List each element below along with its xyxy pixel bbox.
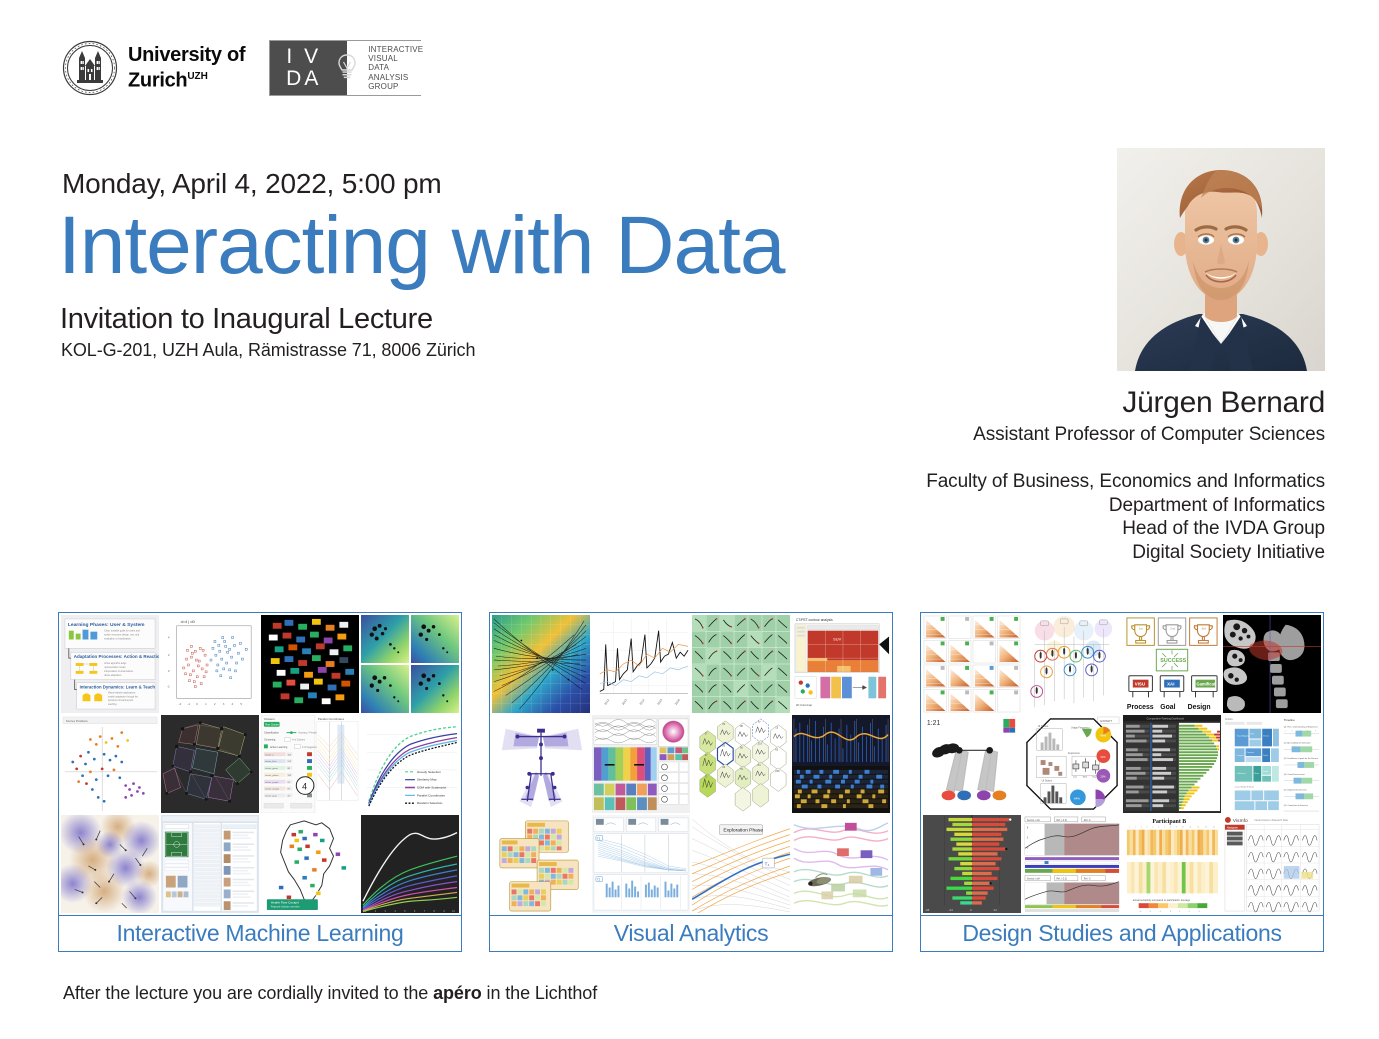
svg-text:1: 1 — [1285, 731, 1286, 733]
collage-grid: 1st 2nd 3rd SUCCESS VISU XAI — [921, 613, 1323, 915]
svg-text:46%: 46% — [1100, 734, 1106, 738]
svg-text:5: 5 — [1315, 731, 1316, 733]
ivda-letters-top: I V — [286, 46, 321, 68]
svg-text:2D Colormap: 2D Colormap — [796, 703, 813, 707]
thumb-parallel-coords-dashboard: T1 T2 — [592, 815, 690, 913]
svg-text:3rd: 3rd — [1201, 627, 1206, 631]
svg-text:drives adaptation.: drives adaptation. — [104, 674, 122, 677]
svg-text:CT/PET-contour analysis: CT/PET-contour analysis — [796, 618, 833, 622]
ivda-logo: I V DA INTERACTIVE VISUAL DATA ANALYSIS … — [269, 40, 421, 96]
svg-text:Ref. (-2.3): Ref. (-2.3) — [1056, 820, 1067, 822]
svg-text:representation model,: representation model, — [104, 666, 126, 669]
svg-text:UI Status: UI Status — [1038, 725, 1049, 728]
svg-text:Clustering: Clustering — [264, 738, 276, 741]
svg-text:Detail: Detail — [1263, 754, 1268, 757]
svg-text:Q5. Reported Involvement: Q5. Reported Involvement — [1284, 788, 1307, 791]
panel-visual-analytics: 2012 2013 2014 2015 2016 — [489, 612, 893, 952]
svg-text:Case Study Themes: Case Study Themes — [1235, 786, 1254, 789]
svg-text:-2: -2 — [167, 685, 170, 689]
svg-text:Learning Phases: User & System: Learning Phases: User & System — [68, 622, 145, 628]
svg-text:Scores Positions: Scores Positions — [66, 719, 88, 723]
svg-text:Q6. Connection to Structure: Q6. Connection to Structure — [1284, 804, 1308, 807]
panel-interactive-machine-learning: Learning Phases: User & System Clear, te… — [58, 612, 462, 952]
svg-text:cluster_gray: cluster_gray — [265, 795, 278, 798]
uzh-wordmark-line1: University of — [128, 44, 245, 66]
svg-text:4: 4 — [302, 781, 307, 791]
header-logos: University of ZurichUZH I V DA INTERACTI… — [62, 40, 421, 96]
svg-text:Ref. (-2.3): Ref. (-2.3) — [1056, 879, 1067, 881]
svg-text:Parallel Coordinates: Parallel Coordinates — [417, 793, 446, 797]
speaker-affiliation-2: Head of the IVDA Group — [805, 517, 1325, 541]
thumb-clustering-tool-ui: Clusters Run Cluster Classification Accu… — [261, 715, 359, 813]
svg-text:Sensor, m/s²: Sensor, m/s² — [1027, 878, 1040, 881]
svg-text:Parallel Coordinates: Parallel Coordinates — [318, 717, 345, 721]
svg-text:6: 6 — [1158, 827, 1159, 829]
svg-text:cluster_yellow: cluster_yellow — [265, 774, 279, 777]
thumb-signal-annotation-tool: Sensor, m/s²Ref. (-2.3)Ref. G 6 3 0 — [1023, 815, 1121, 913]
svg-text:Share: Share — [1254, 772, 1259, 775]
thumb-hexagonal-som-sparklines: 5723987715 37265621965 72247684208 — [692, 715, 790, 813]
svg-text:Greedy Selection: Greedy Selection — [417, 770, 441, 774]
svg-text:Export: Export — [1263, 770, 1269, 773]
svg-text:208: 208 — [775, 770, 780, 773]
svg-text:Q1. Plan / understanding of Ex: Q1. Plan / understanding of Experience — [1284, 726, 1318, 729]
svg-text:5: 5 — [1152, 827, 1153, 829]
svg-text:-2: -2 — [179, 702, 182, 706]
thumb-ct-head-neck-scan — [1223, 615, 1321, 713]
svg-text:system structure design, use,: system structure design, use, and — [104, 634, 140, 637]
speaker-affiliations: Faculty of Business, Economics and Infor… — [805, 470, 1325, 564]
svg-text:Exploration Phase: Exploration Phase — [723, 828, 763, 834]
ivda-expansion-text: INTERACTIVE VISUAL DATA ANALYSIS GROUP — [360, 41, 423, 95]
svg-text:Comparative Ranking Dashboard: Comparative Ranking Dashboard — [1147, 717, 1185, 720]
svg-text:VisInfo: VisInfo — [1233, 818, 1248, 824]
ivda-letters-bottom: DA — [286, 68, 321, 90]
footer-emphasis: apéro — [433, 983, 482, 1003]
svg-text:12: 12 — [1197, 827, 1199, 829]
svg-text:-2: -2 — [1149, 911, 1151, 913]
svg-text:-48: -48 — [925, 908, 930, 912]
svg-text:Regional indicator overview: Regional indicator overview — [271, 906, 300, 909]
thumb-rainbow-heat-edge-bundle — [492, 615, 590, 713]
svg-text:d=4 | d0: d=4 | d0 — [181, 619, 196, 624]
thumb-density-contour-field — [61, 815, 159, 913]
footer-suffix: in the Lichthof — [482, 983, 597, 1003]
svg-text:64%: 64% — [1074, 796, 1080, 800]
thumb-pedigree-provenance-graph — [1023, 615, 1121, 713]
svg-text:Usage Frequency: Usage Frequency — [1071, 728, 1090, 730]
svg-text:Q2. Accessibility of Informati: Q2. Accessibility of Information — [1284, 741, 1311, 744]
svg-text:Criteria: Criteria — [1225, 718, 1233, 721]
thumb-exploration-phase-trajectories: Exploration Phase T₄ — [692, 815, 790, 913]
svg-text:2: 2 — [1292, 731, 1293, 733]
svg-text:3: 3 — [1141, 827, 1142, 829]
svg-text:219: 219 — [758, 742, 763, 745]
speaker-info: Jürgen Bernard Assistant Professor of Co… — [805, 385, 1325, 564]
footer-note: After the lecture you are cordially invi… — [63, 983, 597, 1004]
thumb-graph-network-dark — [161, 715, 259, 813]
thumb-visinfo-sparkline-table: VisInfo Visual Access to Research Data N… — [1223, 815, 1321, 913]
svg-text:4: 4 — [1147, 827, 1148, 829]
svg-text:Gamificat.: Gamificat. — [1197, 682, 1217, 687]
collage-grid: Learning Phases: User & System Clear, te… — [59, 613, 461, 915]
ivda-expansion-1: VISUAL — [368, 54, 423, 63]
svg-text:cluster_a: cluster_a — [265, 753, 274, 756]
svg-text:20%: 20% — [1100, 776, 1106, 779]
panel-caption-design-studies-and-applications: Design Studies and Applications — [921, 915, 1323, 951]
panel-caption-visual-analytics: Visual Analytics — [490, 915, 892, 951]
speaker-affiliation-3: Digital Society Initiative — [805, 541, 1325, 565]
thumb-cluster-heatmap-quadrants — [361, 615, 459, 713]
svg-text:1:21: 1:21 — [927, 720, 941, 727]
svg-text:Navigation: Navigation — [1227, 827, 1239, 830]
svg-text:cluster_orange: cluster_orange — [265, 788, 280, 791]
svg-text:EXPERT: EXPERT — [1100, 719, 1112, 723]
svg-text:11: 11 — [1190, 827, 1192, 829]
svg-text:evaluation of visualization.: evaluation of visualization. — [104, 638, 132, 641]
thumb-diverging-bar-ranking-dark: -48-24024 — [923, 815, 1021, 913]
svg-text:Interact: Interact — [1263, 735, 1269, 738]
svg-text:Interaction Dynamics: Learn &: Interaction Dynamics: Learn & Teach — [80, 685, 156, 690]
svg-text:14: 14 — [1213, 827, 1215, 829]
svg-text:1st: 1st — [1139, 627, 1143, 631]
collage-grid: 2012 2013 2014 2015 2016 — [490, 613, 892, 915]
svg-text:-1: -1 — [187, 702, 190, 706]
svg-text:Active algorithm-ledge: Active algorithm-ledge — [104, 662, 127, 665]
thumb-flag-projection-map — [261, 615, 359, 713]
svg-text:Mixed-initiative applications: Mixed-initiative applications — [108, 691, 136, 694]
svg-text:3: 3 — [1198, 911, 1199, 913]
event-subtitle: Invitation to Inaugural Lecture — [60, 303, 433, 336]
uzh-seal-icon — [62, 40, 118, 96]
thumb-timeseries-peaks-chart: 2012 2013 2014 2015 2016 — [592, 615, 690, 713]
svg-text:Experience: Experience — [1068, 753, 1080, 755]
thumb-participant-b-heatmap: Participant B 1234 5678 9101112 1314 — [1123, 815, 1221, 913]
svg-text:Classification: Classification — [264, 732, 280, 735]
svg-text:T1: T1 — [597, 837, 601, 841]
uzh-wordmark: University of ZurichUZH — [128, 44, 245, 92]
svg-text:4: 4 — [1307, 731, 1308, 733]
svg-text:dynamics of learning and: dynamics of learning and — [108, 699, 134, 702]
svg-text:cluster_blue: cluster_blue — [265, 760, 277, 763]
svg-text:Active Learning: Active Learning — [270, 746, 288, 749]
svg-text:2: 2 — [1135, 827, 1136, 829]
svg-text:Health Flow Cockpit: Health Flow Cockpit — [271, 901, 299, 905]
panel-caption-interactive-machine-learning: Interactive Machine Learning — [59, 915, 461, 951]
svg-text:Clear, testable goals for user: Clear, testable goals for users and — [104, 630, 140, 633]
thumb-motion-trace-skeleton — [492, 715, 590, 813]
thumb-gamification-process-goal-design: 1st 2nd 3rd SUCCESS VISU XAI — [1123, 615, 1221, 713]
svg-text:XAI: XAI — [1167, 682, 1174, 687]
thumb-colormap-editor-ui — [592, 715, 690, 813]
svg-text:Overview: Overview — [1247, 751, 1255, 754]
svg-text:Q3. Usefulness of goals for th: Q3. Usefulness of goals for the Process — [1284, 757, 1318, 760]
svg-text:SUV: SUV — [833, 636, 841, 641]
svg-text:Accuracy / Precision: Accuracy / Precision — [298, 732, 319, 735]
svg-text:Participant B: Participant B — [1152, 819, 1186, 825]
svg-text:0: 0 — [1170, 911, 1171, 913]
svg-text:Visual Mapping: Visual Mapping — [1237, 736, 1249, 738]
svg-text:Similarity Map: Similarity Map — [417, 778, 437, 782]
svg-text:Ref. G: Ref. G — [1084, 820, 1091, 822]
speaker-name: Jürgen Bernard — [805, 385, 1325, 421]
svg-text:SUCCESS: SUCCESS — [1160, 658, 1186, 664]
thumb-two-cluster-scatterplot: d=4 | d0 — [161, 615, 259, 713]
panel-design-studies-and-applications: 1st 2nd 3rd SUCCESS VISU XAI — [920, 612, 1324, 952]
svg-text:interpretation of observations: interpretation of observations — [104, 670, 134, 673]
svg-text:9: 9 — [1176, 827, 1177, 829]
svg-text:Collaborate: Collaborate — [1237, 772, 1246, 775]
svg-text:-3: -3 — [1140, 911, 1142, 913]
svg-text:Low: Low — [1073, 777, 1077, 779]
svg-text:VISU: VISU — [1135, 682, 1145, 687]
event-venue: KOL-G-201, UZH Aula, Rämistrasse 71, 800… — [61, 340, 475, 361]
svg-text:Clusters: Clusters — [264, 717, 275, 721]
ivda-letters: I V DA — [270, 41, 334, 95]
svg-text:Timeline: Timeline — [1284, 718, 1295, 722]
svg-text:Goal: Goal — [1160, 704, 1175, 711]
svg-text:T2: T2 — [597, 878, 601, 882]
svg-text:1: 1 — [1179, 911, 1180, 913]
thumb-strategy-comparison-linechart: Greedy Selection Similarity Map SOM with… — [361, 715, 459, 813]
speaker-portrait-photo — [1117, 148, 1325, 371]
thumb-stacked-matrix-cards — [492, 815, 590, 913]
thumb-soccer-player-explorer-ui — [161, 815, 259, 913]
svg-text:8: 8 — [1170, 827, 1171, 829]
svg-text:Visual Access to Research Data: Visual Access to Research Data — [1254, 819, 1288, 822]
svg-text:2: 2 — [1189, 911, 1190, 913]
thumb-learning-phases-diagram: Learning Phases: User & System Clear, te… — [61, 615, 159, 713]
ivda-expansion-4: GROUP — [368, 82, 423, 91]
thumb-ct-contour-analysis-ui: CT/PET-contour analysis SUV — [792, 615, 890, 713]
thumb-pendulum-physics-sim: 1:21 — [923, 715, 1021, 813]
thumb-treemap-and-rating-scales: Criteria Timeline — [1223, 715, 1321, 813]
thumb-octagon-stats-dashboard: EXPERT UI Status — [1023, 715, 1121, 813]
speaker-affiliation-0: Faculty of Business, Economics and Infor… — [805, 470, 1325, 494]
svg-text:Ref. G: Ref. G — [1084, 879, 1091, 881]
svg-text:2nd: 2nd — [1170, 627, 1175, 631]
svg-text:-24: -24 — [948, 908, 953, 912]
svg-text:Q4. Overall assessment: Q4. Overall assessment — [1284, 773, 1305, 776]
thumb-pastel-flow-overlay — [792, 815, 890, 913]
thumb-multicolor-scatterplot: Scores Positions — [61, 715, 159, 813]
svg-text:1: 1 — [1129, 827, 1130, 829]
footer-prefix: After the lecture you are cordially invi… — [63, 983, 433, 1003]
thumb-small-multiples-curve-grid — [692, 615, 790, 713]
svg-text:Design: Design — [1188, 704, 1211, 711]
svg-text:Random Selection: Random Selection — [417, 801, 443, 805]
svg-text:3: 3 — [1299, 731, 1300, 733]
svg-text:7: 7 — [1164, 827, 1165, 829]
page-title: Interacting with Data — [58, 196, 785, 296]
svg-text:T₄: T₄ — [765, 861, 770, 867]
thumb-dark-ranking-dashboard: Comparative Ranking Dashboard — [1123, 715, 1221, 813]
thumb-triangular-matrix-grid — [923, 615, 1021, 713]
svg-text:SOM with Scatterplot: SOM with Scatterplot — [417, 786, 446, 790]
svg-text:31%: 31% — [1100, 756, 1106, 759]
svg-text:# of Clusters: # of Clusters — [292, 738, 306, 741]
uzh-wordmark-line2: Zurich — [128, 70, 187, 92]
lightbulb-icon — [334, 41, 360, 95]
speaker-affiliation-1: Department of Informatics — [805, 494, 1325, 518]
thumb-growth-curves-dark: 1234 5678 910 — [361, 815, 459, 913]
svg-text:13: 13 — [1205, 827, 1207, 829]
svg-text:Compare: Compare — [1237, 754, 1244, 757]
svg-text:Run Cluster: Run Cluster — [265, 724, 279, 727]
svg-text:10: 10 — [1182, 827, 1184, 829]
ivda-expansion-0: INTERACTIVE — [368, 45, 423, 54]
svg-text:24: 24 — [994, 908, 998, 912]
svg-text:cluster_purple: cluster_purple — [265, 781, 279, 784]
ivda-expansion-2: DATA — [368, 63, 423, 72]
svg-text:-1: -1 — [1159, 911, 1161, 913]
thumb-dark-signal-spectrogram — [792, 715, 890, 813]
svg-text:Filter: Filter — [1250, 733, 1254, 736]
svg-text:cluster_green: cluster_green — [265, 767, 279, 770]
svg-text:Adaptation Processes: Action &: Adaptation Processes: Action & Reaction — [74, 654, 159, 659]
svg-text:actual sensitivity compared to: actual sensitivity compared to participa… — [1133, 899, 1191, 902]
svg-text:teaching.: teaching. — [108, 703, 118, 706]
svg-text:enable adaptation through the: enable adaptation through the — [108, 695, 139, 698]
svg-text:Sensor, m/s²: Sensor, m/s² — [1027, 819, 1040, 822]
thumb-africa-map-glyphs: Health Flow Cockpit Regional indicator o… — [261, 815, 359, 913]
svg-text:Process: Process — [1127, 704, 1154, 711]
university-of-zurich-logo: University of ZurichUZH — [62, 40, 245, 96]
uzh-wordmark-superscript: UZH — [187, 71, 208, 82]
speaker-role: Assistant Professor of Computer Sciences — [805, 422, 1325, 448]
svg-text:UI Status: UI Status — [1042, 780, 1053, 783]
ivda-expansion-3: ANALYSIS — [368, 73, 423, 82]
